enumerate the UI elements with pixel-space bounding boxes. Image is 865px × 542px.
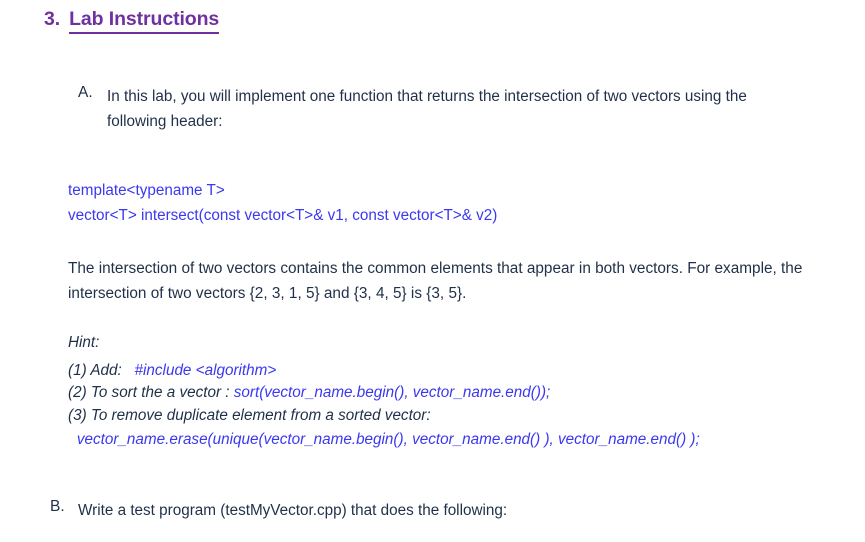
list-item-a-marker: A. (78, 84, 93, 102)
explanation-paragraph: The intersection of two vectors contains… (68, 256, 844, 306)
page-title: 3.Lab Instructions (44, 8, 219, 34)
list-item-a: A. In this lab, you will implement one f… (78, 84, 768, 134)
document-page: 3.Lab Instructions A. In this lab, you w… (0, 0, 865, 542)
hint-block: Hint: (1) Add:#include <algorithm> (2) T… (68, 332, 700, 452)
hint-line-2: (2) To sort the a vector : sort(vector_n… (68, 382, 700, 405)
code-line-1: template<typename T> (68, 178, 497, 203)
list-item-b: B. Write a test program (testMyVector.cp… (50, 498, 810, 523)
hint-line-3: (3) To remove duplicate element from a s… (68, 405, 700, 428)
code-line-2: vector<T> intersect(const vector<T>& v1,… (68, 203, 497, 228)
hint-line-1-code: #include <algorithm> (135, 362, 277, 379)
hint-line-1-label: (1) Add: (68, 362, 122, 379)
page-title-number: 3. (44, 8, 60, 31)
hint-line-4-code: vector_name.erase(unique(vector_name.beg… (68, 429, 700, 452)
hint-title: Hint: (68, 332, 700, 355)
code-snippet-header: template<typename T> vector<T> intersect… (68, 178, 497, 228)
list-item-b-marker: B. (50, 498, 65, 516)
hint-line-2-code: sort(vector_name.begin(), vector_name.en… (234, 384, 551, 401)
list-item-a-text: In this lab, you will implement one func… (107, 84, 758, 134)
page-title-text: Lab Instructions (69, 8, 219, 34)
list-item-b-text: Write a test program (testMyVector.cpp) … (78, 498, 799, 523)
hint-line-2-label: (2) To sort the a vector : (68, 384, 234, 401)
hint-line-1: (1) Add:#include <algorithm> (68, 360, 700, 383)
